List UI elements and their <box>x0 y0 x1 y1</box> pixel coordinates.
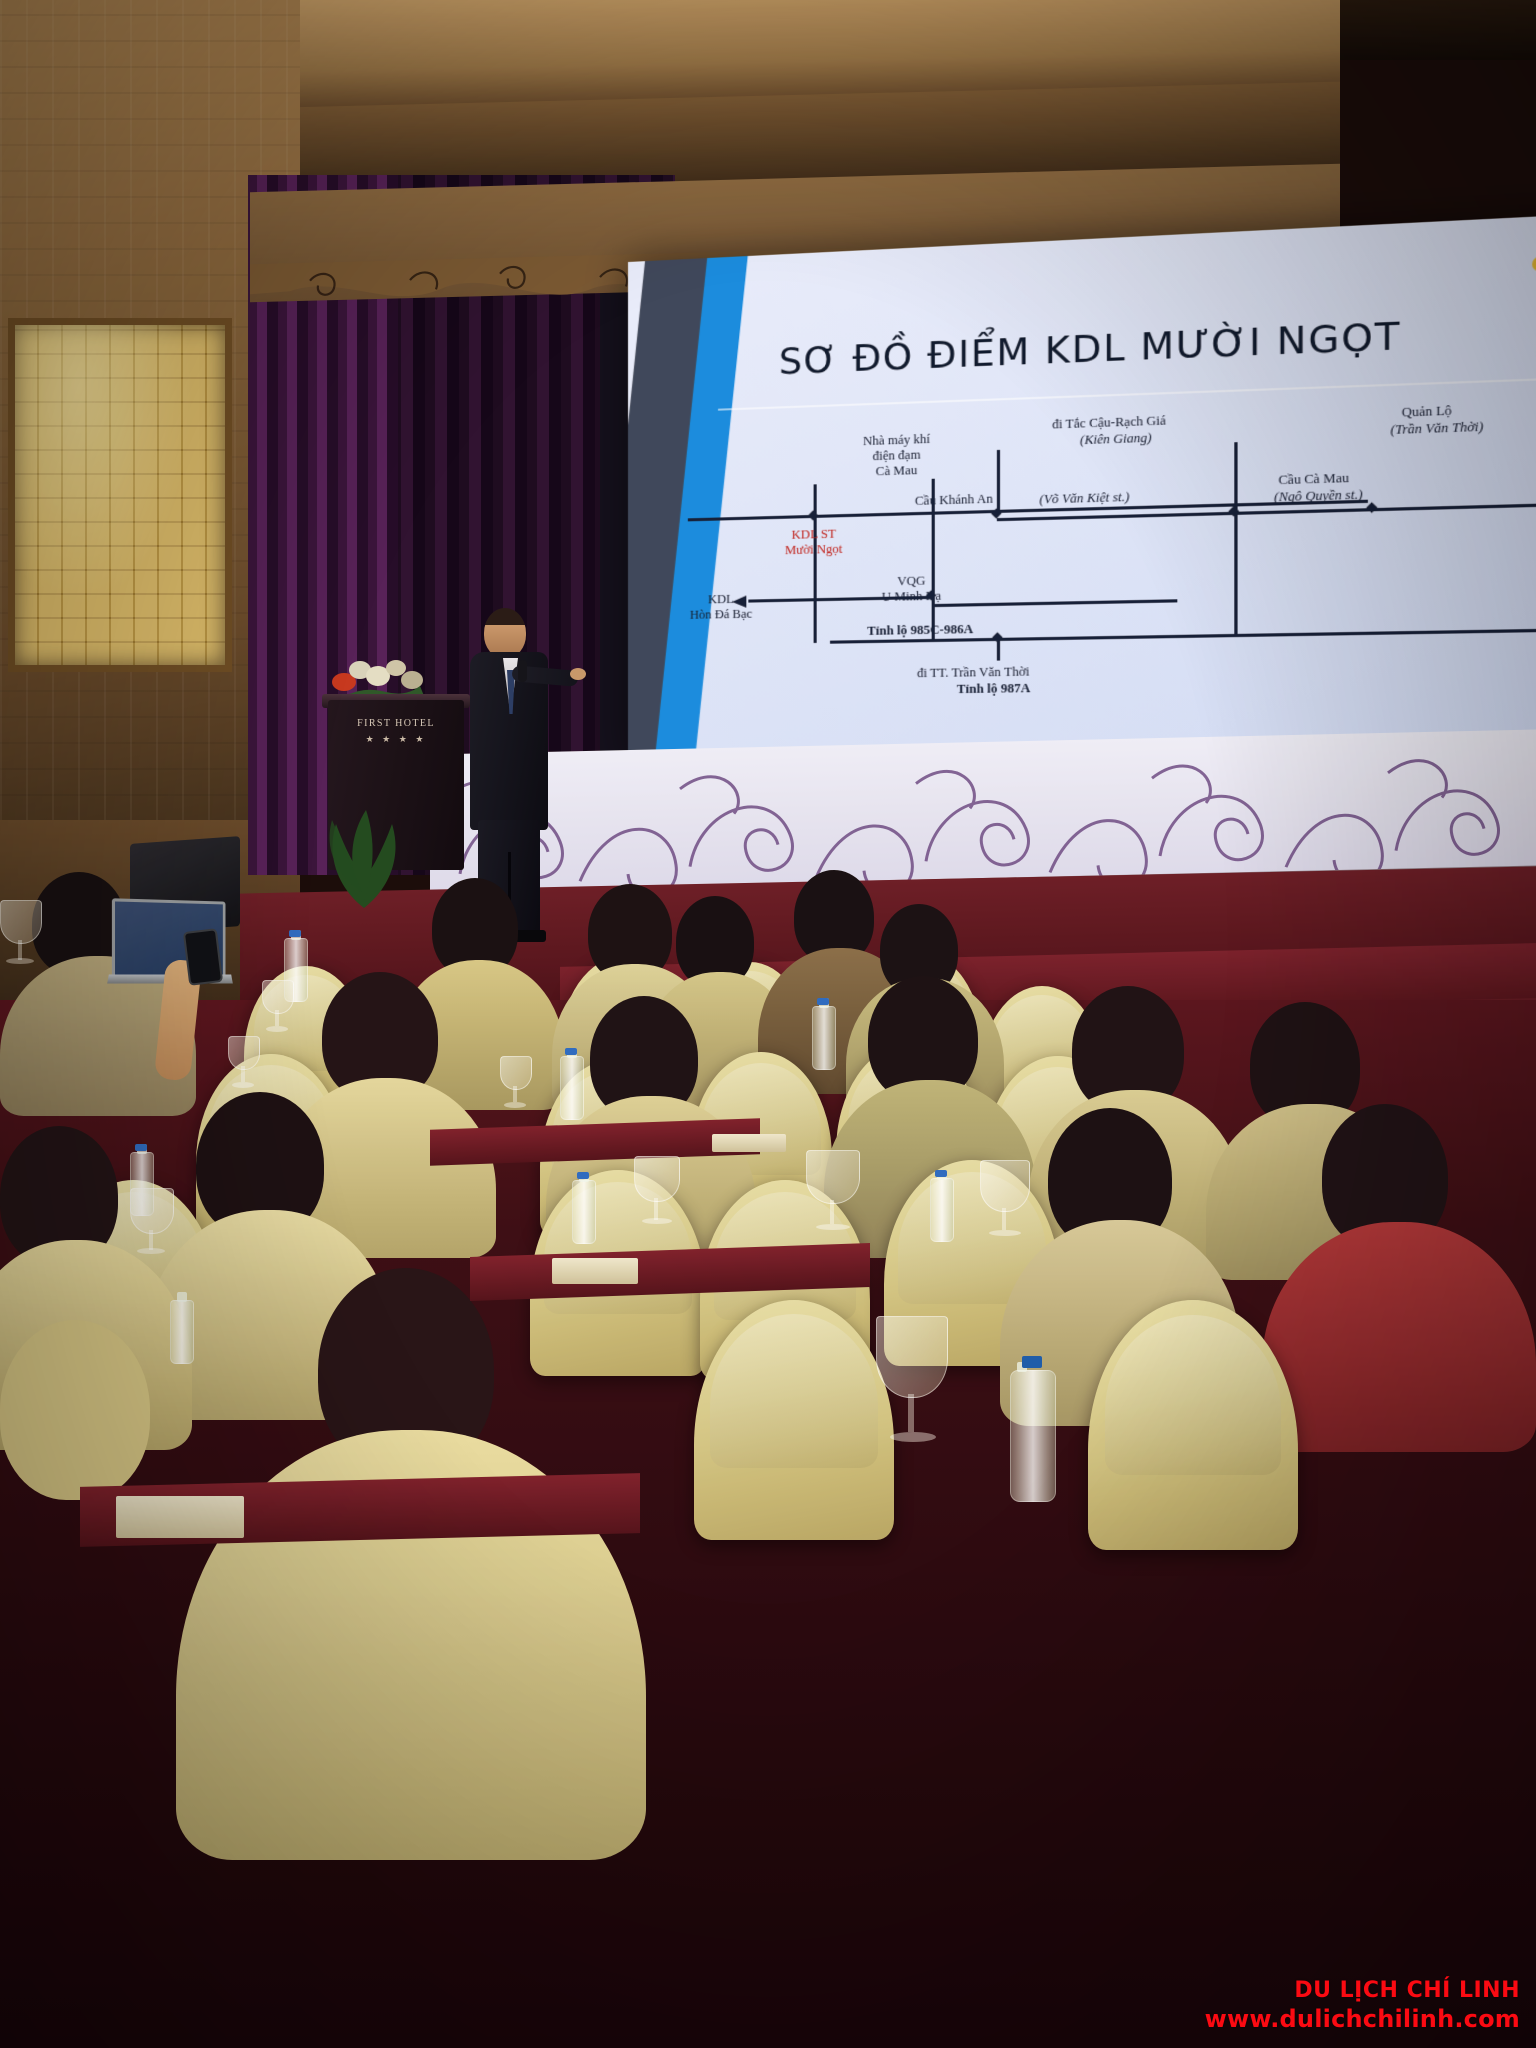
wine-glass <box>130 1188 172 1262</box>
map-label-quan-lo-sub: (Trần Văn Thời) <box>1390 419 1483 438</box>
podium-hotel-name: FIRST HOTEL <box>328 718 464 729</box>
water-bottle <box>170 1300 194 1364</box>
map-road-v-right <box>1234 512 1237 636</box>
map-label-tinh-lo-985c: Tỉnh lộ 985C-986A <box>867 622 973 639</box>
glass-bowl <box>634 1156 680 1202</box>
map-label-vo-van-kiet: (Võ Văn Kiệt st.) <box>1039 490 1129 508</box>
map-label-cau-ca-mau: Cầu Cà Mau <box>1278 470 1348 488</box>
glass-stem <box>908 1394 914 1432</box>
slide-title: SƠ ĐỒ ĐIỂM KDL MƯỜI NGỌT <box>779 306 1536 383</box>
glass-stem <box>275 1010 279 1026</box>
water-bottle <box>560 1056 584 1120</box>
map-label-line: KDL ST <box>785 526 843 542</box>
glass-bowl <box>228 1036 260 1070</box>
bottle-cap <box>565 1048 577 1055</box>
map-label-vqg-u-minh-ha: VQGU Minh Hạ <box>882 573 941 604</box>
map-node-u-minh-ha <box>992 632 1002 642</box>
watermark-line-2: www.dulichchilinh.com <box>1205 2004 1520 2034</box>
podium-hotel-stars: ★ ★ ★ ★ <box>328 734 464 745</box>
plant-leaves-icon <box>318 780 410 910</box>
glass-bowl <box>806 1150 860 1204</box>
glass-bowl <box>130 1188 174 1234</box>
audience-head <box>0 1320 150 1500</box>
wine-glass <box>806 1150 858 1238</box>
map-label-line: điện đạm <box>863 447 930 464</box>
map-label-tinh-lo-987a: Tỉnh lộ 987A <box>957 681 1030 697</box>
glass-bowl <box>980 1160 1030 1212</box>
glass-foot <box>890 1432 936 1442</box>
wine-glass <box>980 1160 1028 1244</box>
map-label-line: U Minh Hạ <box>882 588 941 604</box>
wine-glass <box>228 1036 258 1090</box>
watermark-line-1: DU LỊCH CHÍ LINH <box>1205 1977 1520 2005</box>
map-label-line: KDL <box>690 591 752 607</box>
glass-stem <box>18 940 22 960</box>
folded-napkin <box>712 1134 786 1152</box>
glass-stem <box>241 1066 245 1082</box>
wine-glass <box>500 1056 530 1110</box>
route-map-diagram: Nhà máy khíđiện đạmCà Mauđi Tắc Cậu-Rạch… <box>688 397 1536 751</box>
map-road-v-tac-cau <box>997 450 1000 514</box>
water-bottle <box>812 1006 836 1070</box>
speaker-head <box>484 608 526 658</box>
gold-wall-panel <box>8 318 232 672</box>
map-label-nha-may-khi: Nhà máy khíđiện đạmCà Mau <box>863 432 930 479</box>
map-label-line: VQG <box>882 573 941 589</box>
map-label-di-tac-cau-sub: (Kiên Giang) <box>1080 430 1152 448</box>
map-label-line: đi TT. Trần Văn Thời <box>917 664 1029 681</box>
bottle-cap <box>289 930 301 937</box>
bottle-cap <box>135 1144 147 1151</box>
glass-foot <box>504 1102 526 1108</box>
water-bottle-large <box>1010 1370 1056 1502</box>
map-node-khanh-an <box>808 510 818 520</box>
microphone <box>518 660 527 682</box>
map-label-ngo-quyen: (Ngô Quyền st.) <box>1274 487 1363 505</box>
smartphone <box>183 928 223 986</box>
map-label-line: (Võ Văn Kiệt st.) <box>1039 490 1129 508</box>
map-label-group: Nhà máy khíđiện đạmCà Mauđi Tắc Cậu-Rạch… <box>688 397 1536 430</box>
potted-plant <box>318 780 410 910</box>
map-label-line: Cà Mau <box>863 462 930 479</box>
map-label-line: Cầu Khánh An <box>915 491 993 508</box>
glass-foot <box>6 958 34 964</box>
map-label-line: (Trần Văn Thời) <box>1390 419 1483 438</box>
wine-glass <box>262 980 292 1034</box>
bottle-cap <box>817 998 829 1005</box>
map-label-di-tt-tran-van: đi TT. Trần Văn Thời <box>917 664 1029 681</box>
folded-napkin <box>552 1258 638 1284</box>
map-label-line: Tỉnh lộ 987A <box>957 681 1030 697</box>
glass-stem <box>654 1198 658 1220</box>
glass-bowl <box>262 980 294 1014</box>
water-bottle <box>572 1180 596 1244</box>
map-label-cau-khanh-an: Cầu Khánh An <box>915 491 993 508</box>
bottle-cap <box>935 1170 947 1177</box>
glass-foot <box>232 1082 254 1088</box>
map-label-line: (Ngô Quyền st.) <box>1274 487 1363 505</box>
glass-bowl <box>876 1316 948 1398</box>
wine-glass <box>0 900 40 970</box>
map-label-quan-lo: Quản Lộ <box>1402 403 1452 421</box>
glass-foot <box>266 1026 288 1032</box>
watermark: DU LỊCH CHÍ LINH www.dulichchilinh.com <box>1205 1977 1520 2035</box>
bottle-cap <box>577 1172 589 1179</box>
bottle-cap <box>1022 1356 1042 1368</box>
map-label-kdl-hon-da-bac: KDLHòn Đá Bạc <box>690 591 752 622</box>
glass-foot <box>137 1248 165 1254</box>
map-label-line: Quản Lộ <box>1402 403 1452 421</box>
glass-foot <box>816 1224 850 1230</box>
wine-glass <box>634 1156 678 1230</box>
map-label-kdl-st-muoi-ngot: KDL STMười Ngọt <box>785 526 843 557</box>
glass-bowl <box>0 900 42 944</box>
map-road-v-quan-lo <box>1234 442 1237 512</box>
glass-stem <box>1002 1208 1006 1230</box>
glass-foot <box>989 1230 1021 1236</box>
map-label-line: (Kiên Giang) <box>1080 430 1152 448</box>
wine-glass <box>876 1316 946 1452</box>
glass-stem <box>513 1086 517 1102</box>
projection-screen: SƠ ĐỒ ĐIỂM KDL MƯỜI NGỌT <box>628 213 1536 762</box>
glass-bowl <box>500 1056 532 1090</box>
map-label-line: Tỉnh lộ 985C-986A <box>867 622 973 639</box>
map-road-branch2-h <box>932 599 1178 606</box>
map-label-line: Cầu Cà Mau <box>1278 470 1348 488</box>
photo-scene: SƠ ĐỒ ĐIỂM KDL MƯỜI NGỌT <box>0 0 1536 2048</box>
speaker-hand <box>570 668 586 680</box>
glass-foot <box>642 1218 672 1224</box>
glass-stem <box>830 1200 834 1224</box>
glass-stem <box>149 1230 153 1250</box>
folded-napkin <box>116 1496 244 1538</box>
map-label-line: Mười Ngọt <box>785 541 843 557</box>
flower-logo-icon <box>1525 251 1536 297</box>
water-bottle <box>930 1178 954 1242</box>
map-label-line: Hòn Đá Bạc <box>690 606 752 622</box>
